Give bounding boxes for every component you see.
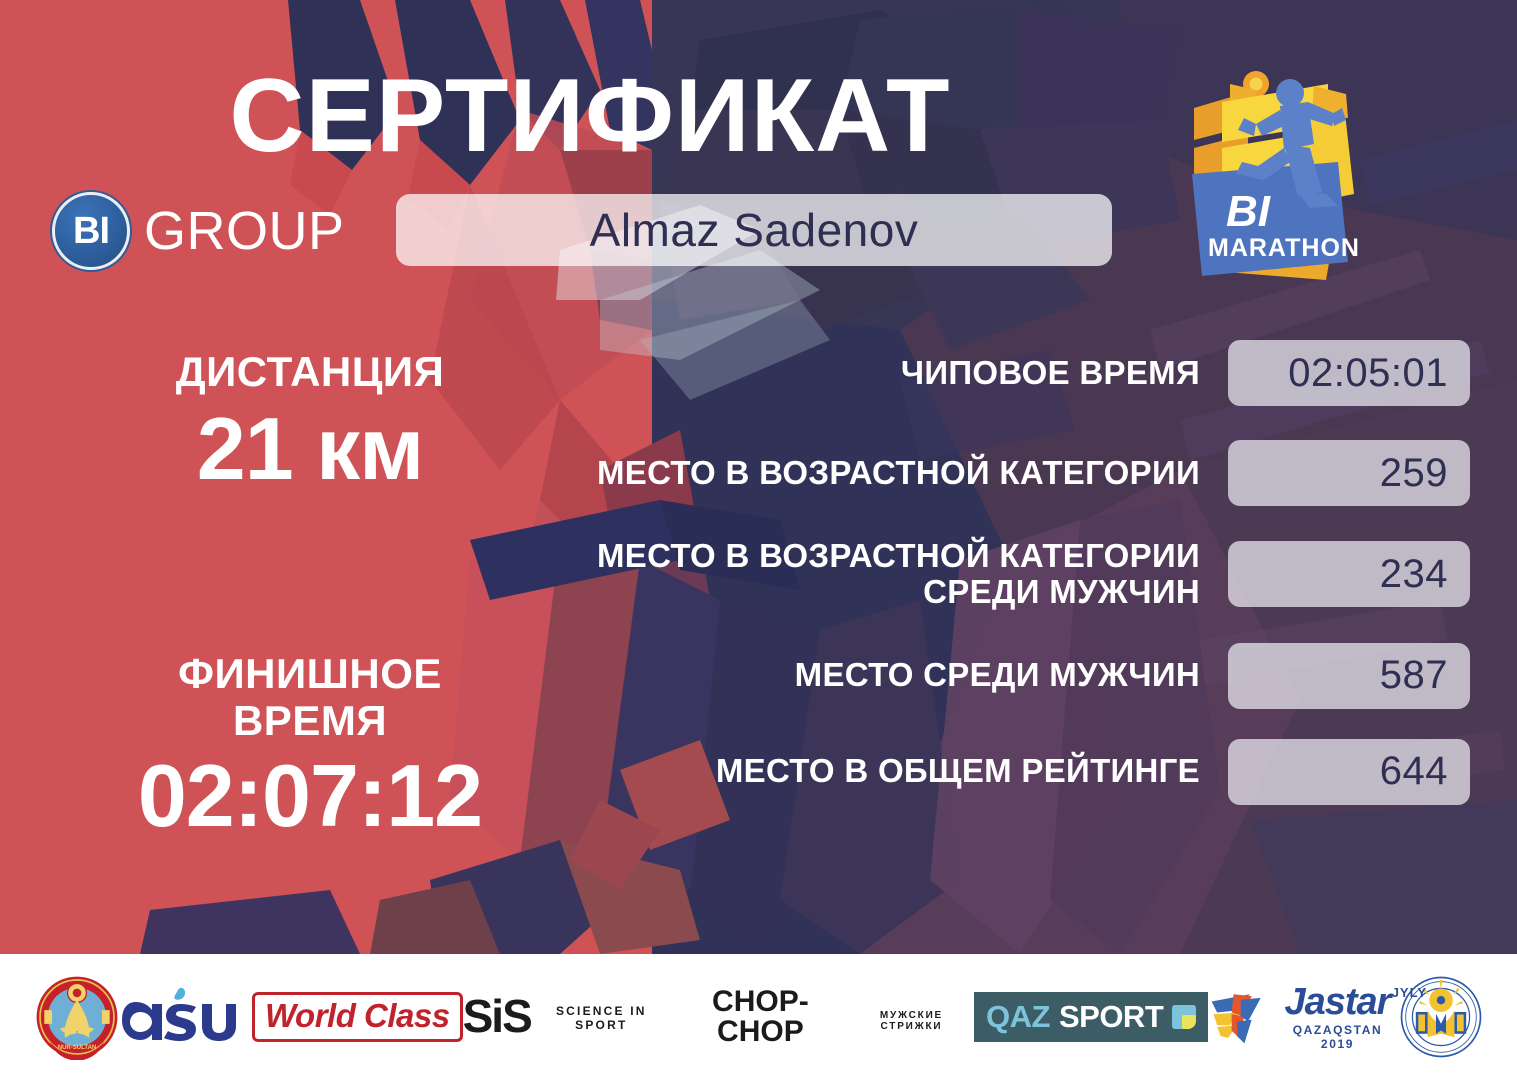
sponsor-world-class: World Class (252, 992, 463, 1042)
stat-value-box: 234 (1228, 541, 1470, 607)
stat-row: МЕСТО В ОБЩЕМ РЕЙТИНГЕ 644 (520, 739, 1470, 805)
jastar-arrow-icon (1208, 984, 1272, 1050)
finish-time-label-1: ФИНИШНОЕ (60, 650, 560, 697)
stats-list: ЧИПОВОЕ ВРЕМЯ 02:05:01 МЕСТО В ВОЗРАСТНО… (520, 340, 1470, 831)
finish-time-label-2: ВРЕМЯ (60, 697, 560, 744)
stat-label: МЕСТО В ВОЗРАСТНОЙ КАТЕГОРИИ (520, 455, 1228, 491)
bi-badge-text: BI (73, 212, 109, 250)
stat-row: МЕСТО В ВОЗРАСТНОЙ КАТЕГОРИИ 259 (520, 440, 1470, 506)
bi-group-logo: BI GROUP (52, 192, 345, 270)
bi-marathon-logo: BI MARATHON (1192, 71, 1360, 280)
stat-value-box: 259 (1228, 440, 1470, 506)
distance-value: 21 км (60, 403, 560, 495)
sponsor-bar: NUR-SULTAN World Class SiS SCIENCE IN SP… (0, 954, 1517, 1080)
stat-label: ЧИПОВОЕ ВРЕМЯ (520, 355, 1228, 391)
participant-name: Almaz Sadenov (590, 203, 919, 257)
sponsor-chop-chop-subtext: МУЖСКИЕ СТРИЖКИ (849, 1010, 974, 1032)
stat-value-box: 587 (1228, 643, 1470, 709)
stat-value: 02:05:01 (1288, 351, 1448, 396)
sponsor-jastar-subtext: QAZAQSTAN 2019 (1276, 1023, 1399, 1051)
qazsport-square-icon (1172, 1005, 1196, 1029)
sponsor-sis-text: SiS (463, 996, 531, 1037)
stat-value-box: 02:05:01 (1228, 340, 1470, 406)
qazsport-badge: QAZSPORT (974, 992, 1208, 1042)
stat-label: МЕСТО В ОБЩЕМ РЕЙТИНГЕ (520, 753, 1228, 789)
stat-row: МЕСТО СРЕДИ МУЖЧИН 587 (520, 643, 1470, 709)
stat-label: МЕСТО СРЕДИ МУЖЧИН (520, 657, 1228, 693)
sponsor-world-class-text: World Class (252, 992, 463, 1042)
certificate-canvas: BI MARATHON СЕРТИФИКАТ BI GROUP Almaz Sa… (0, 0, 1517, 1080)
sponsor-jastar-superscript: JYLY (1392, 985, 1427, 1000)
sponsor-qazsport-text-a: QAZ (986, 999, 1050, 1035)
stat-value: 644 (1380, 749, 1448, 794)
participant-name-field: Almaz Sadenov (396, 194, 1112, 266)
sponsor-asu (120, 986, 252, 1048)
stat-value-box: 644 (1228, 739, 1470, 805)
finish-time-value: 02:07:12 (60, 750, 560, 842)
sponsor-jastar-text: Jastar (1276, 983, 1399, 1021)
stat-label: МЕСТО В ВОЗРАСТНОЙ КАТЕГОРИИ СРЕДИ МУЖЧИ… (520, 538, 1228, 611)
stat-value: 587 (1380, 653, 1448, 698)
distance-label: ДИСТАНЦИЯ (60, 348, 560, 395)
sponsor-sis: SiS SCIENCE IN SPORT (463, 996, 672, 1037)
sponsor-qazsport: QAZSPORT (974, 992, 1208, 1042)
distance-block: ДИСТАНЦИЯ 21 км (60, 348, 560, 495)
sponsor-chop-chop-text: CHOP-CHOP (672, 987, 849, 1047)
stat-row: ЧИПОВОЕ ВРЕМЯ 02:05:01 (520, 340, 1470, 406)
sponsor-nur-sultan-emblem: NUR-SULTAN (34, 974, 120, 1060)
finish-time-block: ФИНИШНОЕ ВРЕМЯ 02:07:12 (60, 650, 560, 842)
stat-row: МЕСТО В ВОЗРАСТНОЙ КАТЕГОРИИ СРЕДИ МУЖЧИ… (520, 538, 1470, 611)
page-title: СЕРТИФИКАТ (0, 62, 1180, 171)
marathon-logo-word: MARATHON (1208, 234, 1360, 262)
stat-value: 234 (1380, 552, 1448, 597)
sponsor-qazsport-text-b: SPORT (1059, 999, 1163, 1035)
sponsor-chop-chop: CHOP-CHOP МУЖСКИЕ СТРИЖКИ (672, 987, 974, 1047)
bi-badge-icon: BI (52, 192, 130, 270)
sponsor-nur-sultan-text: NUR-SULTAN (58, 1045, 97, 1051)
sponsor-jastar-jyly: Jastar JYLY QAZAQSTAN 2019 (1208, 983, 1399, 1051)
sponsor-sis-subtext: SCIENCE IN SPORT (531, 1004, 672, 1032)
bi-group-word: GROUP (144, 200, 345, 262)
stat-value: 259 (1380, 451, 1448, 496)
marathon-logo-bi: BI (1226, 187, 1271, 236)
